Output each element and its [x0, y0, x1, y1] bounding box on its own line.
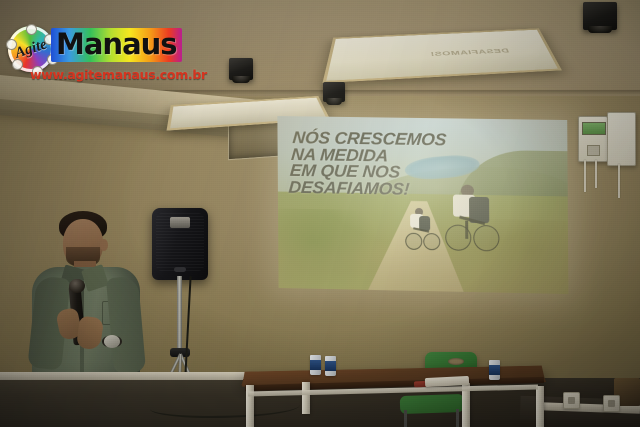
presentation-room-photo: DESAFIAMOS!: [0, 0, 640, 427]
watermark-brand-name: Manaus: [51, 28, 182, 62]
agite-tambourine-logo-icon: Agite: [8, 26, 54, 72]
watermark: Agite Manaus www.agitemanaus.com.br: [8, 22, 168, 90]
watermark-url: www.agitemanaus.com.br: [30, 67, 207, 82]
tambourine-jingles: [8, 26, 54, 72]
